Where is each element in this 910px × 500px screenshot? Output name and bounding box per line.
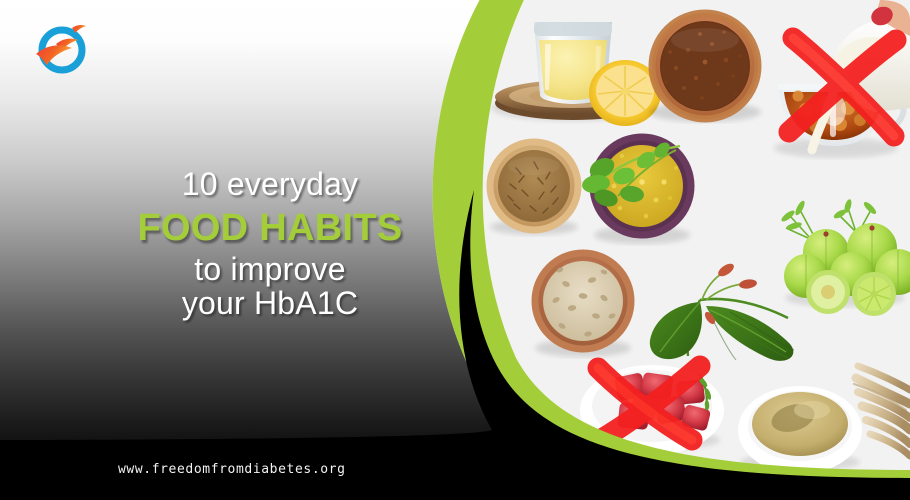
headline-line-4: your HbA1C bbox=[110, 287, 430, 321]
headline-line-1: 10 everyday bbox=[110, 168, 430, 202]
food-cumin-seeds bbox=[490, 142, 578, 235]
freedom-from-diabetes-logo[interactable] bbox=[28, 18, 98, 80]
headline-block: 10 everyday FOOD HABITS to improve your … bbox=[110, 168, 430, 321]
headline-line-2: FOOD HABITS bbox=[110, 202, 430, 253]
headline-line-3: to improve bbox=[110, 253, 430, 287]
food-flax-seeds bbox=[649, 13, 761, 122]
website-url[interactable]: www.freedomfromdiabetes.org bbox=[118, 462, 346, 477]
promo-banner: 10 everyday FOOD HABITS to improve your … bbox=[0, 0, 910, 500]
